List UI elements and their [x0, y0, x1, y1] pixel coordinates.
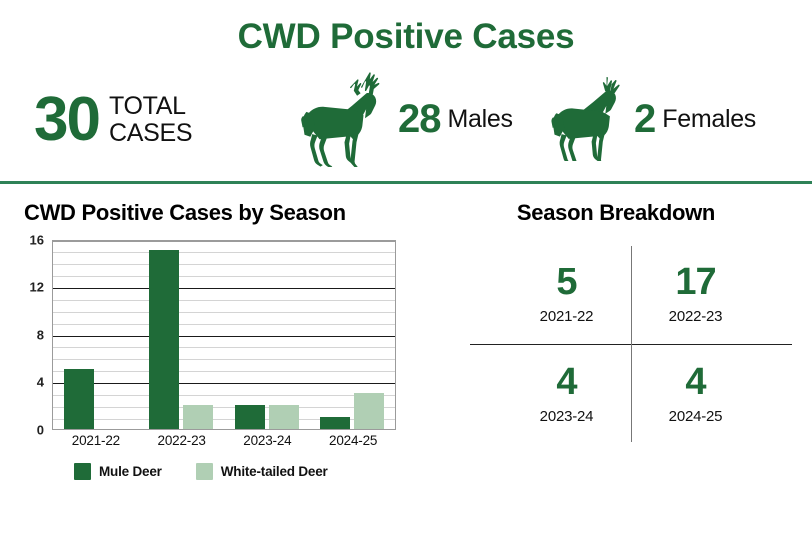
breakdown-cell: 42024-25	[631, 344, 760, 444]
bar-mule-deer[interactable]	[320, 417, 350, 429]
quadrant-vertical-divider	[631, 246, 632, 442]
y-axis: 0481216	[24, 240, 48, 430]
breakdown-title: Season Breakdown	[454, 200, 812, 226]
y-axis-tick: 12	[30, 280, 44, 295]
bar-group	[224, 242, 310, 429]
x-axis-tick: 2022-23	[139, 433, 225, 448]
doe-deer-icon	[546, 73, 634, 166]
legend-swatch	[74, 463, 91, 480]
breakdown-season-label: 2022-23	[669, 308, 723, 325]
bar-white-tailed-deer[interactable]	[354, 393, 384, 429]
lower-section: CWD Positive Cases by Season 0481216 202…	[0, 184, 812, 504]
males-stat: 28 Males	[294, 67, 546, 172]
males-value: 28	[398, 101, 441, 138]
total-cases-label: TOTAL CASES	[109, 93, 192, 147]
total-cases-stat: 30 TOTAL CASES	[34, 91, 294, 148]
chart-panel: CWD Positive Cases by Season 0481216 202…	[0, 200, 420, 504]
page-title: CWD Positive Cases	[0, 0, 812, 57]
y-axis-tick: 0	[37, 422, 44, 437]
breakdown-cell: 42023-24	[502, 344, 631, 444]
x-axis-tick: 2021-22	[53, 433, 139, 448]
females-value: 2	[634, 101, 655, 138]
total-cases-value: 30	[34, 91, 99, 148]
chart-title: CWD Positive Cases by Season	[24, 200, 420, 226]
plot-area	[52, 240, 396, 430]
breakdown-season-label: 2023-24	[540, 408, 594, 425]
x-axis-tick: 2023-24	[225, 433, 311, 448]
females-stat: 2 Females	[546, 73, 794, 166]
bar-mule-deer[interactable]	[235, 405, 265, 429]
breakdown-season-label: 2024-25	[669, 408, 723, 425]
y-axis-tick: 16	[30, 232, 44, 247]
bar-white-tailed-deer[interactable]	[269, 405, 299, 429]
males-label: Males	[448, 105, 513, 134]
legend-item[interactable]: White-tailed Deer	[196, 463, 328, 480]
legend-swatch	[196, 463, 213, 480]
x-axis: 2021-222022-232023-242024-25	[53, 433, 396, 448]
bar-mule-deer[interactable]	[149, 250, 179, 428]
chart-legend: Mule DeerWhite-tailed Deer	[74, 463, 420, 480]
females-label: Females	[662, 105, 756, 134]
buck-deer-icon	[294, 67, 398, 172]
breakdown-cell: 172022-23	[631, 244, 760, 344]
x-axis-tick: 2024-25	[310, 433, 396, 448]
legend-label: White-tailed Deer	[221, 464, 328, 479]
bar-group	[53, 242, 139, 429]
y-axis-tick: 4	[37, 375, 44, 390]
breakdown-value: 17	[675, 263, 715, 301]
bar-group	[310, 242, 396, 429]
bar-mule-deer[interactable]	[64, 369, 94, 428]
breakdown-value: 4	[685, 363, 705, 401]
breakdown-cell: 52021-22	[502, 244, 631, 344]
breakdown-value: 4	[556, 363, 576, 401]
bar-chart: 0481216 2021-222022-232023-242024-25	[24, 240, 396, 430]
total-cases-label-line1: TOTAL	[109, 92, 186, 120]
summary-stats-row: 30 TOTAL CASES	[0, 65, 812, 175]
y-axis-tick: 8	[37, 327, 44, 342]
legend-label: Mule Deer	[99, 464, 162, 479]
legend-item[interactable]: Mule Deer	[74, 463, 162, 480]
bar-group	[139, 242, 225, 429]
breakdown-season-label: 2021-22	[540, 308, 594, 325]
bar-white-tailed-deer[interactable]	[183, 405, 213, 429]
bar-series-container	[53, 242, 395, 429]
season-breakdown-panel: Season Breakdown 52021-22172022-2342023-…	[420, 200, 812, 504]
total-cases-label-line2: CASES	[109, 119, 192, 147]
breakdown-quadrants: 52021-22172022-2342023-2442024-25	[502, 244, 760, 444]
breakdown-value: 5	[556, 263, 576, 301]
